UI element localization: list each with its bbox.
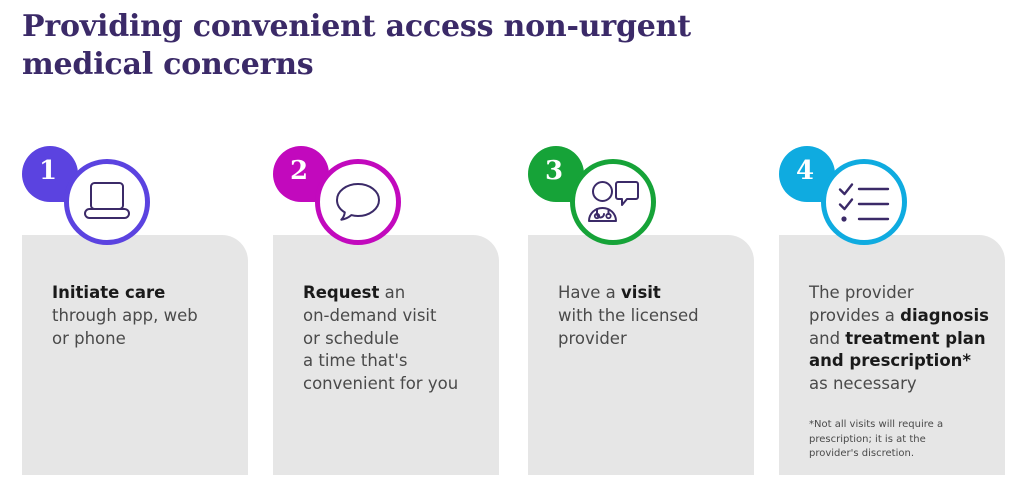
step-4-footnote: *Not all visits will require a prescript… bbox=[809, 418, 991, 462]
step-1-icon-circle bbox=[64, 159, 150, 245]
step-3-text: Have a visit with the licensed provider bbox=[558, 282, 744, 350]
step-2-number: 2 bbox=[290, 158, 308, 184]
step-1-line-1-bold: Initiate care bbox=[52, 283, 165, 302]
page-title: Providing convenient access non-urgent m… bbox=[22, 8, 722, 84]
step-4-icon-circle bbox=[821, 159, 907, 245]
step-1-number: 1 bbox=[39, 158, 57, 184]
step-2-line-5: convenient for you bbox=[303, 373, 489, 396]
step-card-2: 2 Request an on-demand visit or schedule… bbox=[273, 140, 499, 480]
step-1-text: Initiate care through app, web or phone bbox=[52, 282, 238, 350]
step-4-line-1: The provider bbox=[809, 282, 995, 305]
step-4-line-3-rest: and bbox=[809, 329, 845, 348]
laptop-icon bbox=[81, 179, 133, 225]
step-2-line-3: or schedule bbox=[303, 328, 489, 351]
step-4-text: The provider provides a diagnosis and tr… bbox=[809, 282, 995, 396]
step-2-line-1-rest: an bbox=[379, 283, 405, 302]
step-4-line-2-rest: provides a bbox=[809, 306, 900, 325]
step-2-line-2: on-demand visit bbox=[303, 305, 489, 328]
step-4-line-4-bold: and prescription* bbox=[809, 351, 971, 370]
step-3-line-2: with the licensed bbox=[558, 305, 744, 328]
step-4-line-3-bold: treatment plan bbox=[845, 329, 985, 348]
step-3-line-1-bold: visit bbox=[621, 283, 661, 302]
provider-consult-icon bbox=[585, 178, 641, 226]
step-1-line-3: or phone bbox=[52, 328, 238, 351]
step-3-panel bbox=[528, 235, 754, 475]
step-1-panel bbox=[22, 235, 248, 475]
step-4-number: 4 bbox=[796, 158, 814, 184]
step-3-number: 3 bbox=[545, 158, 563, 184]
step-4-line-5: as necessary bbox=[809, 373, 995, 396]
step-1-line-2: through app, web bbox=[52, 305, 238, 328]
step-2-line-1-bold: Request bbox=[303, 283, 379, 302]
speech-bubble-icon bbox=[333, 179, 383, 225]
step-2-icon-circle bbox=[315, 159, 401, 245]
step-3-line-3: provider bbox=[558, 328, 744, 351]
step-card-4: 4 The provider provides a diagnosis and … bbox=[779, 140, 1005, 480]
step-3-icon-circle bbox=[570, 159, 656, 245]
checklist-icon bbox=[837, 180, 891, 224]
step-2-line-4: a time that's bbox=[303, 350, 489, 373]
step-2-text: Request an on-demand visit or schedule a… bbox=[303, 282, 489, 396]
step-card-1: 1 Initiate care through app, web or phon… bbox=[22, 140, 248, 480]
step-3-line-1-rest: Have a bbox=[558, 283, 621, 302]
step-card-3: 3 Have a visit with the licensed bbox=[528, 140, 754, 480]
steps-row: 1 Initiate care through app, web or phon… bbox=[0, 140, 1024, 480]
step-4-line-2-bold: diagnosis bbox=[900, 306, 989, 325]
infographic-root: Providing convenient access non-urgent m… bbox=[0, 0, 1024, 494]
